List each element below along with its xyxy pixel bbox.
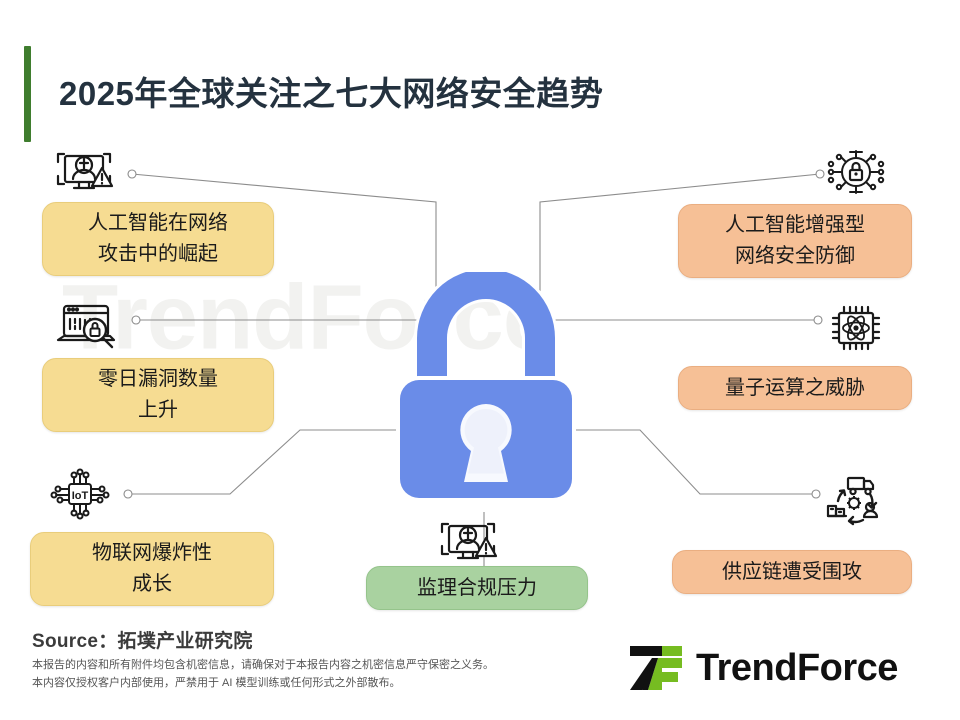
trend-label-line2: 上升	[98, 395, 218, 426]
circuit-lock-icon	[824, 146, 888, 198]
central-padlock-icon	[388, 272, 584, 512]
trend-label-supply-chain[interactable]: 供应链遭受围攻	[672, 550, 912, 594]
trendforce-logo-mark	[628, 644, 684, 692]
trend-label-zero-day[interactable]: 零日漏洞数量 上升	[42, 358, 274, 432]
supply-chain-cycle-icon	[820, 472, 888, 528]
trendforce-logo: TrendForce	[628, 644, 898, 692]
iot-chip-icon: IoT	[44, 468, 116, 520]
trend-label-iot-growth[interactable]: 物联网爆炸性 成长	[30, 532, 274, 606]
trend-label-line1: 零日漏洞数量	[98, 364, 218, 395]
quantum-chip-atom-icon	[826, 302, 886, 354]
trend-label-line1: 物联网爆炸性	[92, 538, 212, 569]
trend-label-line1: 供应链遭受围攻	[722, 557, 862, 588]
disclaimer-line-2: 本内容仅授权客户内部使用，严禁用于 AI 模型训练或任何形式之外部散布。	[32, 674, 494, 692]
laptop-code-magnifier-lock-icon	[52, 300, 120, 352]
source-line: Source：拓墣产业研究院	[32, 626, 253, 653]
trend-label-line1: 量子运算之威胁	[725, 373, 865, 404]
trendforce-logo-text: TrendForce	[696, 644, 898, 692]
trend-label-line2: 攻击中的崛起	[88, 239, 228, 270]
trend-label-line1: 人工智能在网络	[88, 208, 228, 239]
disclaimer-text: 本报告的内容和所有附件均包含机密信息，请确保对于本报告内容之机密信息严守保密之义…	[32, 656, 494, 692]
trend-label-quantum-threat[interactable]: 量子运算之威胁	[678, 366, 912, 410]
svg-text:IoT: IoT	[72, 490, 89, 502]
trend-label-line1: 监理合规压力	[417, 573, 537, 604]
trend-label-compliance[interactable]: 监理合规压力	[366, 566, 588, 610]
hacker-monitor-alert-icon	[52, 146, 116, 198]
trend-label-line2: 网络安全防御	[725, 241, 865, 272]
disclaimer-line-1: 本报告的内容和所有附件均包含机密信息，请确保对于本报告内容之机密信息严守保密之义…	[32, 656, 494, 674]
slide-canvas: TrendForce 2025年全球关注之七大网络安全趋势	[0, 0, 960, 720]
trend-label-ai-attack[interactable]: 人工智能在网络 攻击中的崛起	[42, 202, 274, 276]
trend-label-line1: 人工智能增强型	[725, 210, 865, 241]
hacker-monitor-alert-icon	[436, 516, 500, 568]
trend-label-line2: 成长	[92, 569, 212, 600]
trend-label-ai-defense[interactable]: 人工智能增强型 网络安全防御	[678, 204, 912, 278]
